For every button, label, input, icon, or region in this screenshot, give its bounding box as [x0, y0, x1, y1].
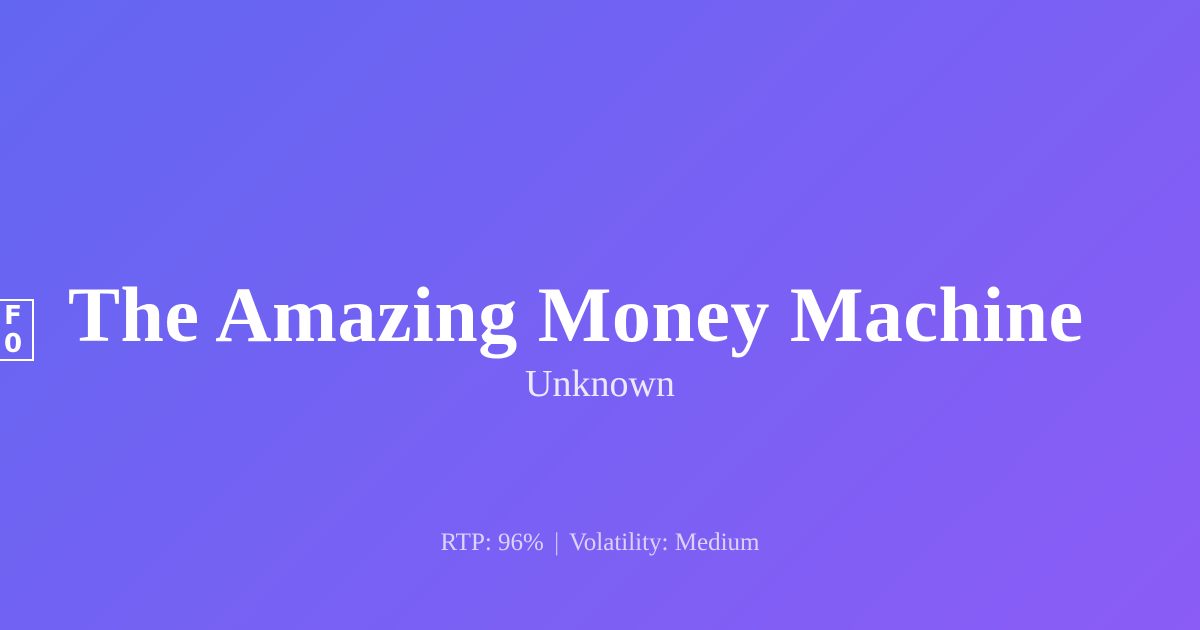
missing-glyph-box: F 0: [0, 299, 34, 361]
stats-separator: |: [550, 529, 563, 556]
game-stats-line: RTP: 96% | Volatility: Medium: [0, 528, 1200, 558]
missing-glyph-hex-bottom: 0: [4, 330, 22, 358]
volatility-value: Medium: [675, 529, 760, 556]
missing-glyph-hex-top: F: [4, 302, 22, 330]
slot-machine-emoji-icon: F 0: [0, 263, 34, 361]
game-share-card: F 0 The Amazing Money Machine Unknown RT…: [0, 0, 1200, 630]
rtp-value: 96%: [498, 529, 544, 556]
game-provider-subtitle: Unknown: [0, 362, 1200, 408]
rtp-label: RTP:: [441, 529, 492, 556]
volatility-label: Volatility:: [569, 529, 669, 556]
page-title: The Amazing Money Machine: [68, 276, 1084, 354]
